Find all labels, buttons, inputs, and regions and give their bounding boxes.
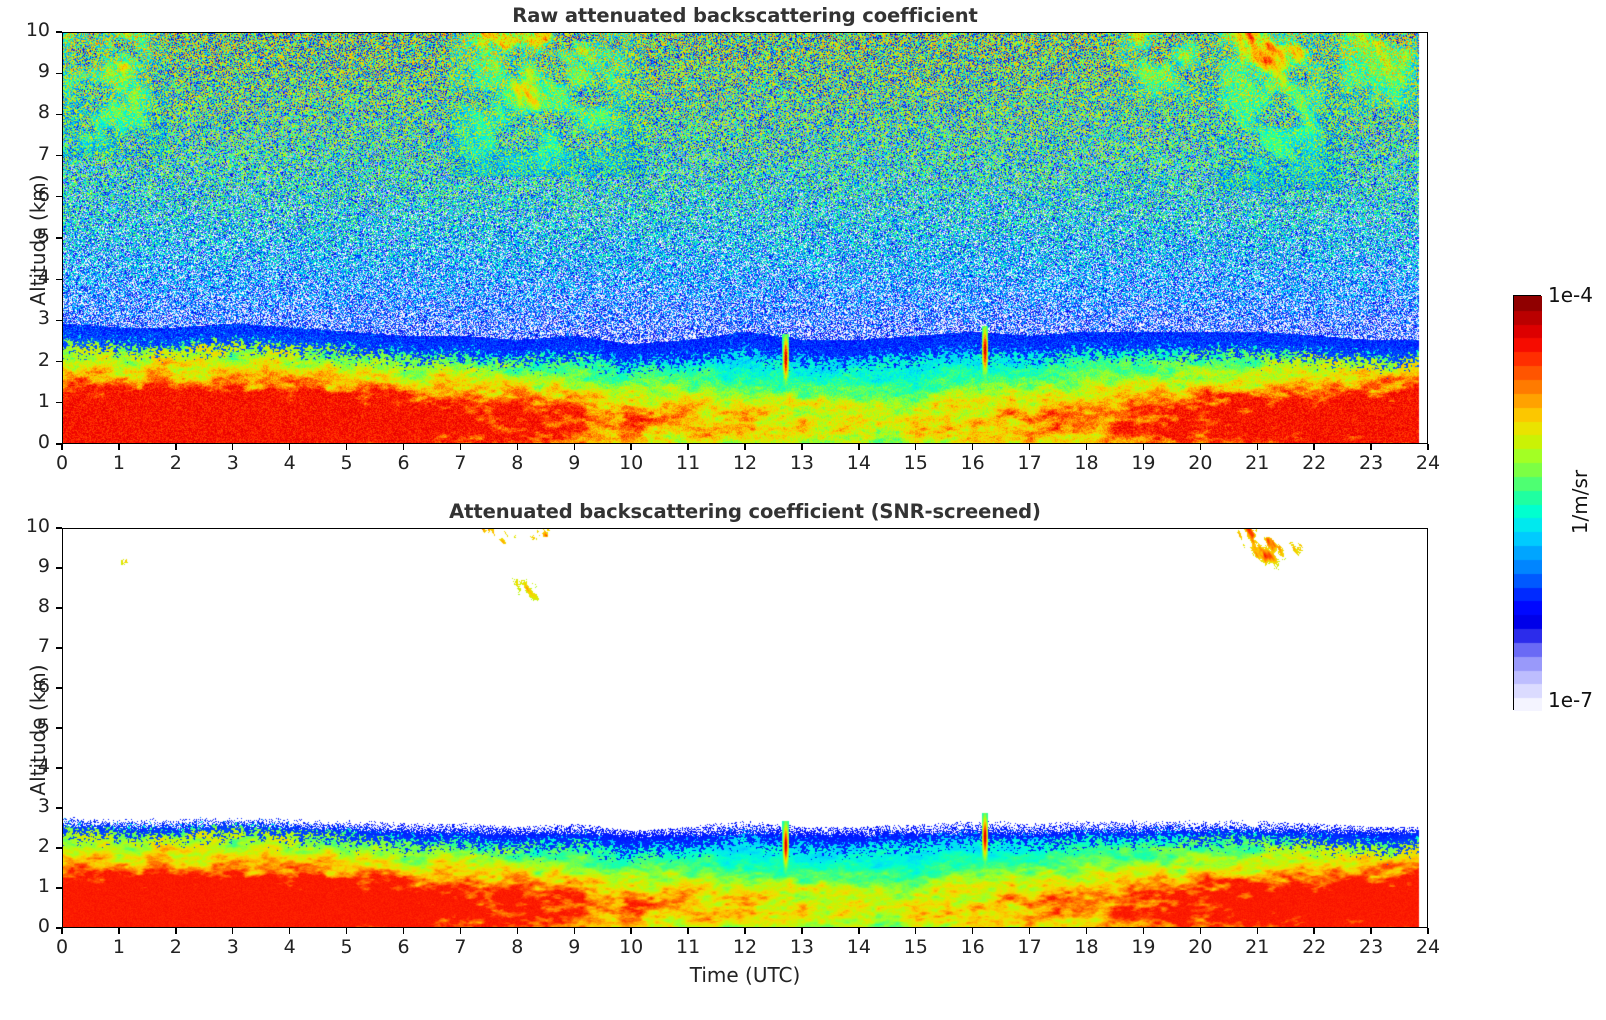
y-tick-mark <box>56 647 62 648</box>
y-tick-mark <box>56 320 62 321</box>
x-tick-mark <box>1257 444 1258 450</box>
plot-area-raw <box>62 32 1428 444</box>
x-tick-label: 3 <box>208 936 258 958</box>
x-tick-label: 14 <box>834 936 884 958</box>
x-tick-mark <box>1313 444 1314 450</box>
colorbar-unit-label: 1/m/sr <box>1568 422 1592 582</box>
y-tick-label: 10 <box>6 19 50 41</box>
x-tick-mark <box>858 444 859 450</box>
x-tick-mark <box>289 444 290 450</box>
x-tick-mark <box>972 444 973 450</box>
y-tick-label: 3 <box>6 307 50 329</box>
y-tick-label: 1 <box>6 390 50 412</box>
x-tick-mark <box>1313 928 1314 934</box>
x-tick-label: 18 <box>1062 936 1112 958</box>
x-tick-label: 22 <box>1289 936 1339 958</box>
x-tick-mark <box>858 928 859 934</box>
y-tick-mark <box>56 31 62 32</box>
x-tick-mark <box>118 444 119 450</box>
x-tick-label: 5 <box>322 936 372 958</box>
y-tick-label: 8 <box>6 101 50 123</box>
x-tick-label: 24 <box>1403 452 1453 474</box>
y-tick-mark <box>56 687 62 688</box>
x-tick-label: 2 <box>151 936 201 958</box>
x-tick-mark <box>630 444 631 450</box>
y-tick-mark <box>56 279 62 280</box>
x-tick-mark <box>630 928 631 934</box>
y-tick-mark <box>56 114 62 115</box>
y-tick-mark <box>56 927 62 928</box>
x-tick-label: 9 <box>549 452 599 474</box>
x-tick-mark <box>915 928 916 934</box>
x-tick-label: 6 <box>379 936 429 958</box>
y-tick-label: 5 <box>6 715 50 737</box>
x-tick-label: 19 <box>1118 936 1168 958</box>
x-tick-label: 12 <box>720 452 770 474</box>
x-tick-label: 11 <box>663 452 713 474</box>
y-tick-label: 7 <box>6 143 50 165</box>
y-tick-mark <box>56 767 62 768</box>
x-tick-label: 21 <box>1232 452 1282 474</box>
x-tick-label: 22 <box>1289 452 1339 474</box>
x-tick-label: 0 <box>37 452 87 474</box>
x-tick-label: 18 <box>1062 452 1112 474</box>
x-tick-mark <box>744 444 745 450</box>
x-tick-label: 15 <box>891 452 941 474</box>
x-tick-label: 20 <box>1175 936 1225 958</box>
x-tick-label: 10 <box>606 936 656 958</box>
x-tick-label: 14 <box>834 452 884 474</box>
x-tick-label: 2 <box>151 452 201 474</box>
y-tick-label: 3 <box>6 795 50 817</box>
x-tick-label: 17 <box>1005 936 1055 958</box>
x-tick-mark <box>574 928 575 934</box>
y-tick-mark <box>56 155 62 156</box>
x-tick-label: 9 <box>549 936 599 958</box>
y-tick-label: 1 <box>6 875 50 897</box>
x-tick-label: 11 <box>663 936 713 958</box>
x-tick-label: 19 <box>1118 452 1168 474</box>
y-tick-label: 6 <box>6 184 50 206</box>
x-tick-mark <box>61 928 62 934</box>
x-tick-label: 13 <box>777 452 827 474</box>
x-tick-mark <box>232 444 233 450</box>
y-tick-mark <box>56 237 62 238</box>
x-tick-label: 15 <box>891 936 941 958</box>
panel-title-raw: Raw attenuated backscattering coefficien… <box>62 4 1428 27</box>
x-tick-label: 1 <box>94 936 144 958</box>
x-tick-label: 1 <box>94 452 144 474</box>
y-tick-label: 10 <box>6 515 50 537</box>
panel-title-screened: Attenuated backscattering coefficient (S… <box>62 500 1428 523</box>
y-tick-mark <box>56 887 62 888</box>
y-tick-label: 4 <box>6 266 50 288</box>
y-tick-mark <box>56 361 62 362</box>
y-tick-label: 5 <box>6 225 50 247</box>
x-tick-mark <box>517 444 518 450</box>
x-tick-label: 3 <box>208 452 258 474</box>
x-tick-mark <box>801 444 802 450</box>
x-tick-label: 8 <box>492 936 542 958</box>
y-tick-mark <box>56 807 62 808</box>
x-axis-label: Time (UTC) <box>62 963 1428 987</box>
x-tick-mark <box>346 444 347 450</box>
x-tick-label: 24 <box>1403 936 1453 958</box>
y-tick-mark <box>56 73 62 74</box>
y-tick-label: 7 <box>6 635 50 657</box>
x-tick-mark <box>289 928 290 934</box>
x-tick-label: 4 <box>265 452 315 474</box>
x-tick-mark <box>460 928 461 934</box>
x-tick-label: 17 <box>1005 452 1055 474</box>
x-tick-label: 12 <box>720 936 770 958</box>
x-tick-mark <box>801 928 802 934</box>
x-tick-mark <box>175 928 176 934</box>
x-tick-mark <box>1029 928 1030 934</box>
x-tick-mark <box>1257 928 1258 934</box>
y-tick-mark <box>56 727 62 728</box>
y-tick-label: 2 <box>6 349 50 371</box>
x-tick-mark <box>1370 928 1371 934</box>
x-tick-label: 5 <box>322 452 372 474</box>
y-tick-label: 9 <box>6 555 50 577</box>
y-tick-mark <box>56 402 62 403</box>
x-tick-label: 7 <box>435 452 485 474</box>
y-tick-label: 6 <box>6 675 50 697</box>
x-tick-mark <box>1086 444 1087 450</box>
x-tick-mark <box>1200 444 1201 450</box>
x-tick-mark <box>1200 928 1201 934</box>
x-tick-mark <box>517 928 518 934</box>
heatmap-canvas-raw <box>63 33 1428 444</box>
x-tick-mark <box>1029 444 1030 450</box>
x-tick-label: 0 <box>37 936 87 958</box>
x-tick-mark <box>346 928 347 934</box>
y-tick-label: 4 <box>6 755 50 777</box>
x-tick-mark <box>460 444 461 450</box>
colorbar-gradient <box>1514 296 1542 711</box>
x-tick-label: 6 <box>379 452 429 474</box>
x-tick-mark <box>574 444 575 450</box>
x-tick-label: 13 <box>777 936 827 958</box>
x-tick-label: 8 <box>492 452 542 474</box>
x-tick-mark <box>1370 444 1371 450</box>
x-tick-mark <box>61 444 62 450</box>
x-tick-mark <box>1143 444 1144 450</box>
x-tick-mark <box>403 928 404 934</box>
x-tick-mark <box>118 928 119 934</box>
y-tick-mark <box>56 567 62 568</box>
x-tick-label: 16 <box>948 452 998 474</box>
y-tick-label: 9 <box>6 60 50 82</box>
y-tick-mark <box>56 443 62 444</box>
x-tick-mark <box>1427 444 1428 450</box>
x-tick-mark <box>175 444 176 450</box>
x-tick-label: 20 <box>1175 452 1225 474</box>
y-tick-label: 0 <box>6 915 50 937</box>
y-tick-mark <box>56 527 62 528</box>
x-tick-mark <box>403 444 404 450</box>
x-tick-mark <box>1086 928 1087 934</box>
x-tick-mark <box>915 444 916 450</box>
x-tick-mark <box>687 444 688 450</box>
x-tick-mark <box>1427 928 1428 934</box>
x-tick-label: 23 <box>1346 452 1396 474</box>
x-tick-label: 10 <box>606 452 656 474</box>
plot-area-screened <box>62 528 1428 928</box>
y-tick-label: 2 <box>6 835 50 857</box>
y-tick-mark <box>56 607 62 608</box>
x-tick-mark <box>232 928 233 934</box>
x-tick-label: 4 <box>265 936 315 958</box>
x-tick-label: 16 <box>948 936 998 958</box>
lidar-figure: Raw attenuated backscattering coefficien… <box>0 0 1606 1020</box>
colorbar-max-label: 1e-4 <box>1548 283 1593 307</box>
x-tick-mark <box>744 928 745 934</box>
x-tick-mark <box>687 928 688 934</box>
x-tick-label: 23 <box>1346 936 1396 958</box>
y-tick-label: 8 <box>6 595 50 617</box>
y-tick-mark <box>56 196 62 197</box>
y-tick-label: 0 <box>6 431 50 453</box>
heatmap-canvas-screened <box>63 529 1428 928</box>
x-tick-mark <box>972 928 973 934</box>
y-tick-mark <box>56 847 62 848</box>
x-tick-label: 21 <box>1232 936 1282 958</box>
colorbar-min-label: 1e-7 <box>1548 688 1593 712</box>
x-tick-label: 7 <box>435 936 485 958</box>
colorbar <box>1513 295 1541 710</box>
x-tick-mark <box>1143 928 1144 934</box>
